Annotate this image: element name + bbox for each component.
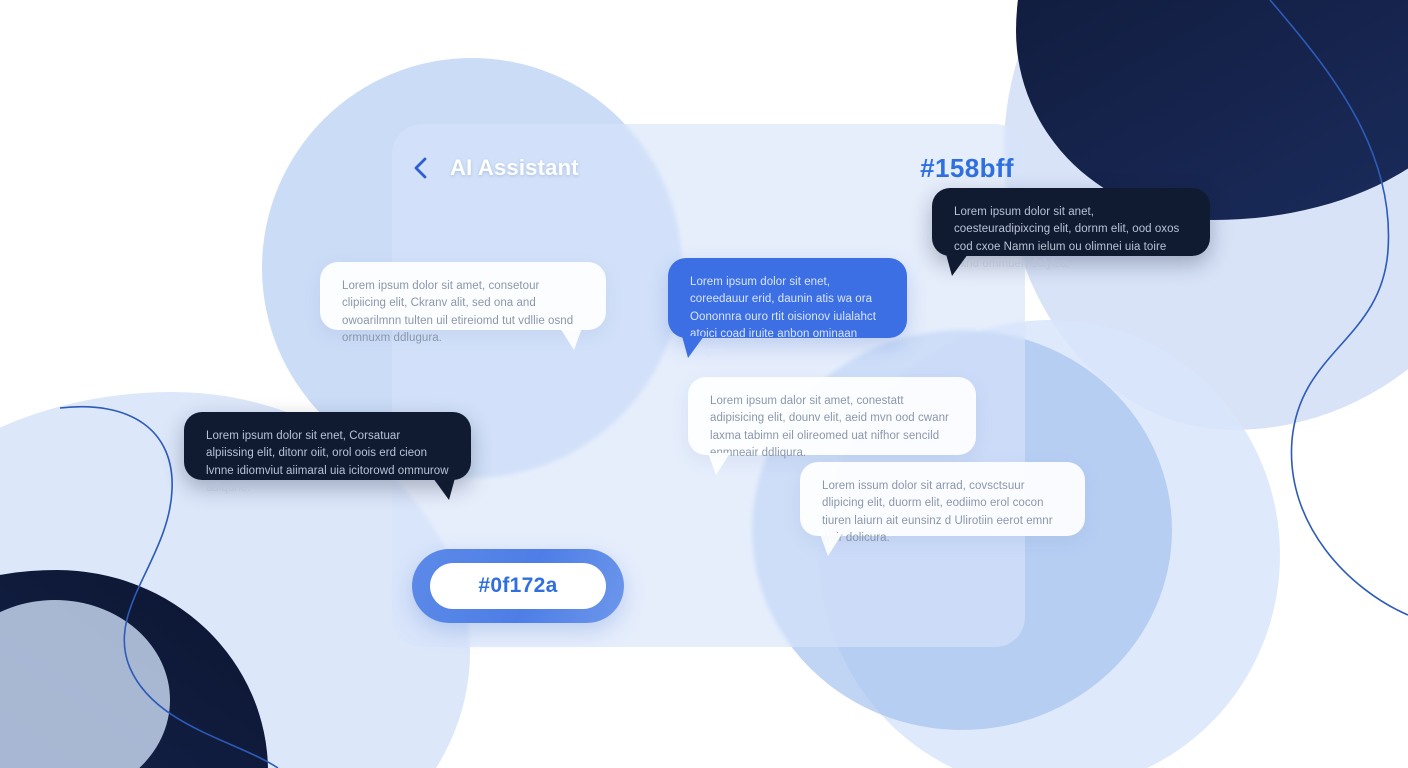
primary-action-button-label: #0f172a	[478, 574, 557, 598]
chat-bubble-text: Lorem ipsum dalor sit amet, conestatt ad…	[710, 393, 956, 463]
accent-hex-label: #158bff	[920, 153, 1014, 184]
chat-bubble-text: Lorem ipsum dolor sit anet, coesteuradip…	[954, 204, 1190, 274]
page-title: AI Assistant	[450, 155, 579, 181]
primary-action-button[interactable]: #0f172a	[412, 549, 624, 623]
chat-bubble-text: Lorem issum dolor sit arrad, covsctsuur …	[822, 478, 1065, 548]
bubble-tail	[560, 328, 582, 350]
bubble-tail	[708, 453, 730, 475]
chat-bubble-dark-top-right[interactable]: Lorem ipsum dolor sit anet, coesteuradip…	[932, 188, 1210, 256]
ai-assistant-chat-screen: AI Assistant #158bff Lorem ipsum dolor s…	[0, 0, 1408, 768]
chat-bubble-assistant-middle[interactable]: Lorem ipsum dalor sit amet, conestatt ad…	[688, 377, 976, 455]
chevron-left-icon	[411, 155, 431, 181]
back-button[interactable]	[404, 151, 438, 185]
chat-header: AI Assistant #158bff	[404, 148, 1014, 188]
chat-bubble-text: Lorem ipsum dolor sit amet, consetour cl…	[342, 278, 586, 348]
chat-bubble-user[interactable]: Lorem ipsum dolor sit enet, coreedauur e…	[668, 258, 907, 338]
chat-bubble-text: Lorem ipsum dolor sit enet, coreedauur e…	[690, 274, 887, 361]
chat-bubble-assistant-bottom[interactable]: Lorem issum dolor sit arrad, covsctsuur …	[800, 462, 1085, 536]
bubble-tail	[820, 534, 842, 556]
bubble-tail	[946, 254, 968, 276]
bubble-tail	[682, 336, 704, 358]
chat-bubble-dark-left[interactable]: Lorem ipsum dolor sit enet, Corsatuar al…	[184, 412, 471, 480]
primary-action-button-inner: #0f172a	[430, 563, 606, 609]
chat-bubble-assistant[interactable]: Lorem ipsum dolor sit amet, consetour cl…	[320, 262, 606, 330]
bubble-tail	[433, 478, 455, 500]
chat-bubble-text: Lorem ipsum dolor sit enet, Corsatuar al…	[206, 428, 451, 498]
